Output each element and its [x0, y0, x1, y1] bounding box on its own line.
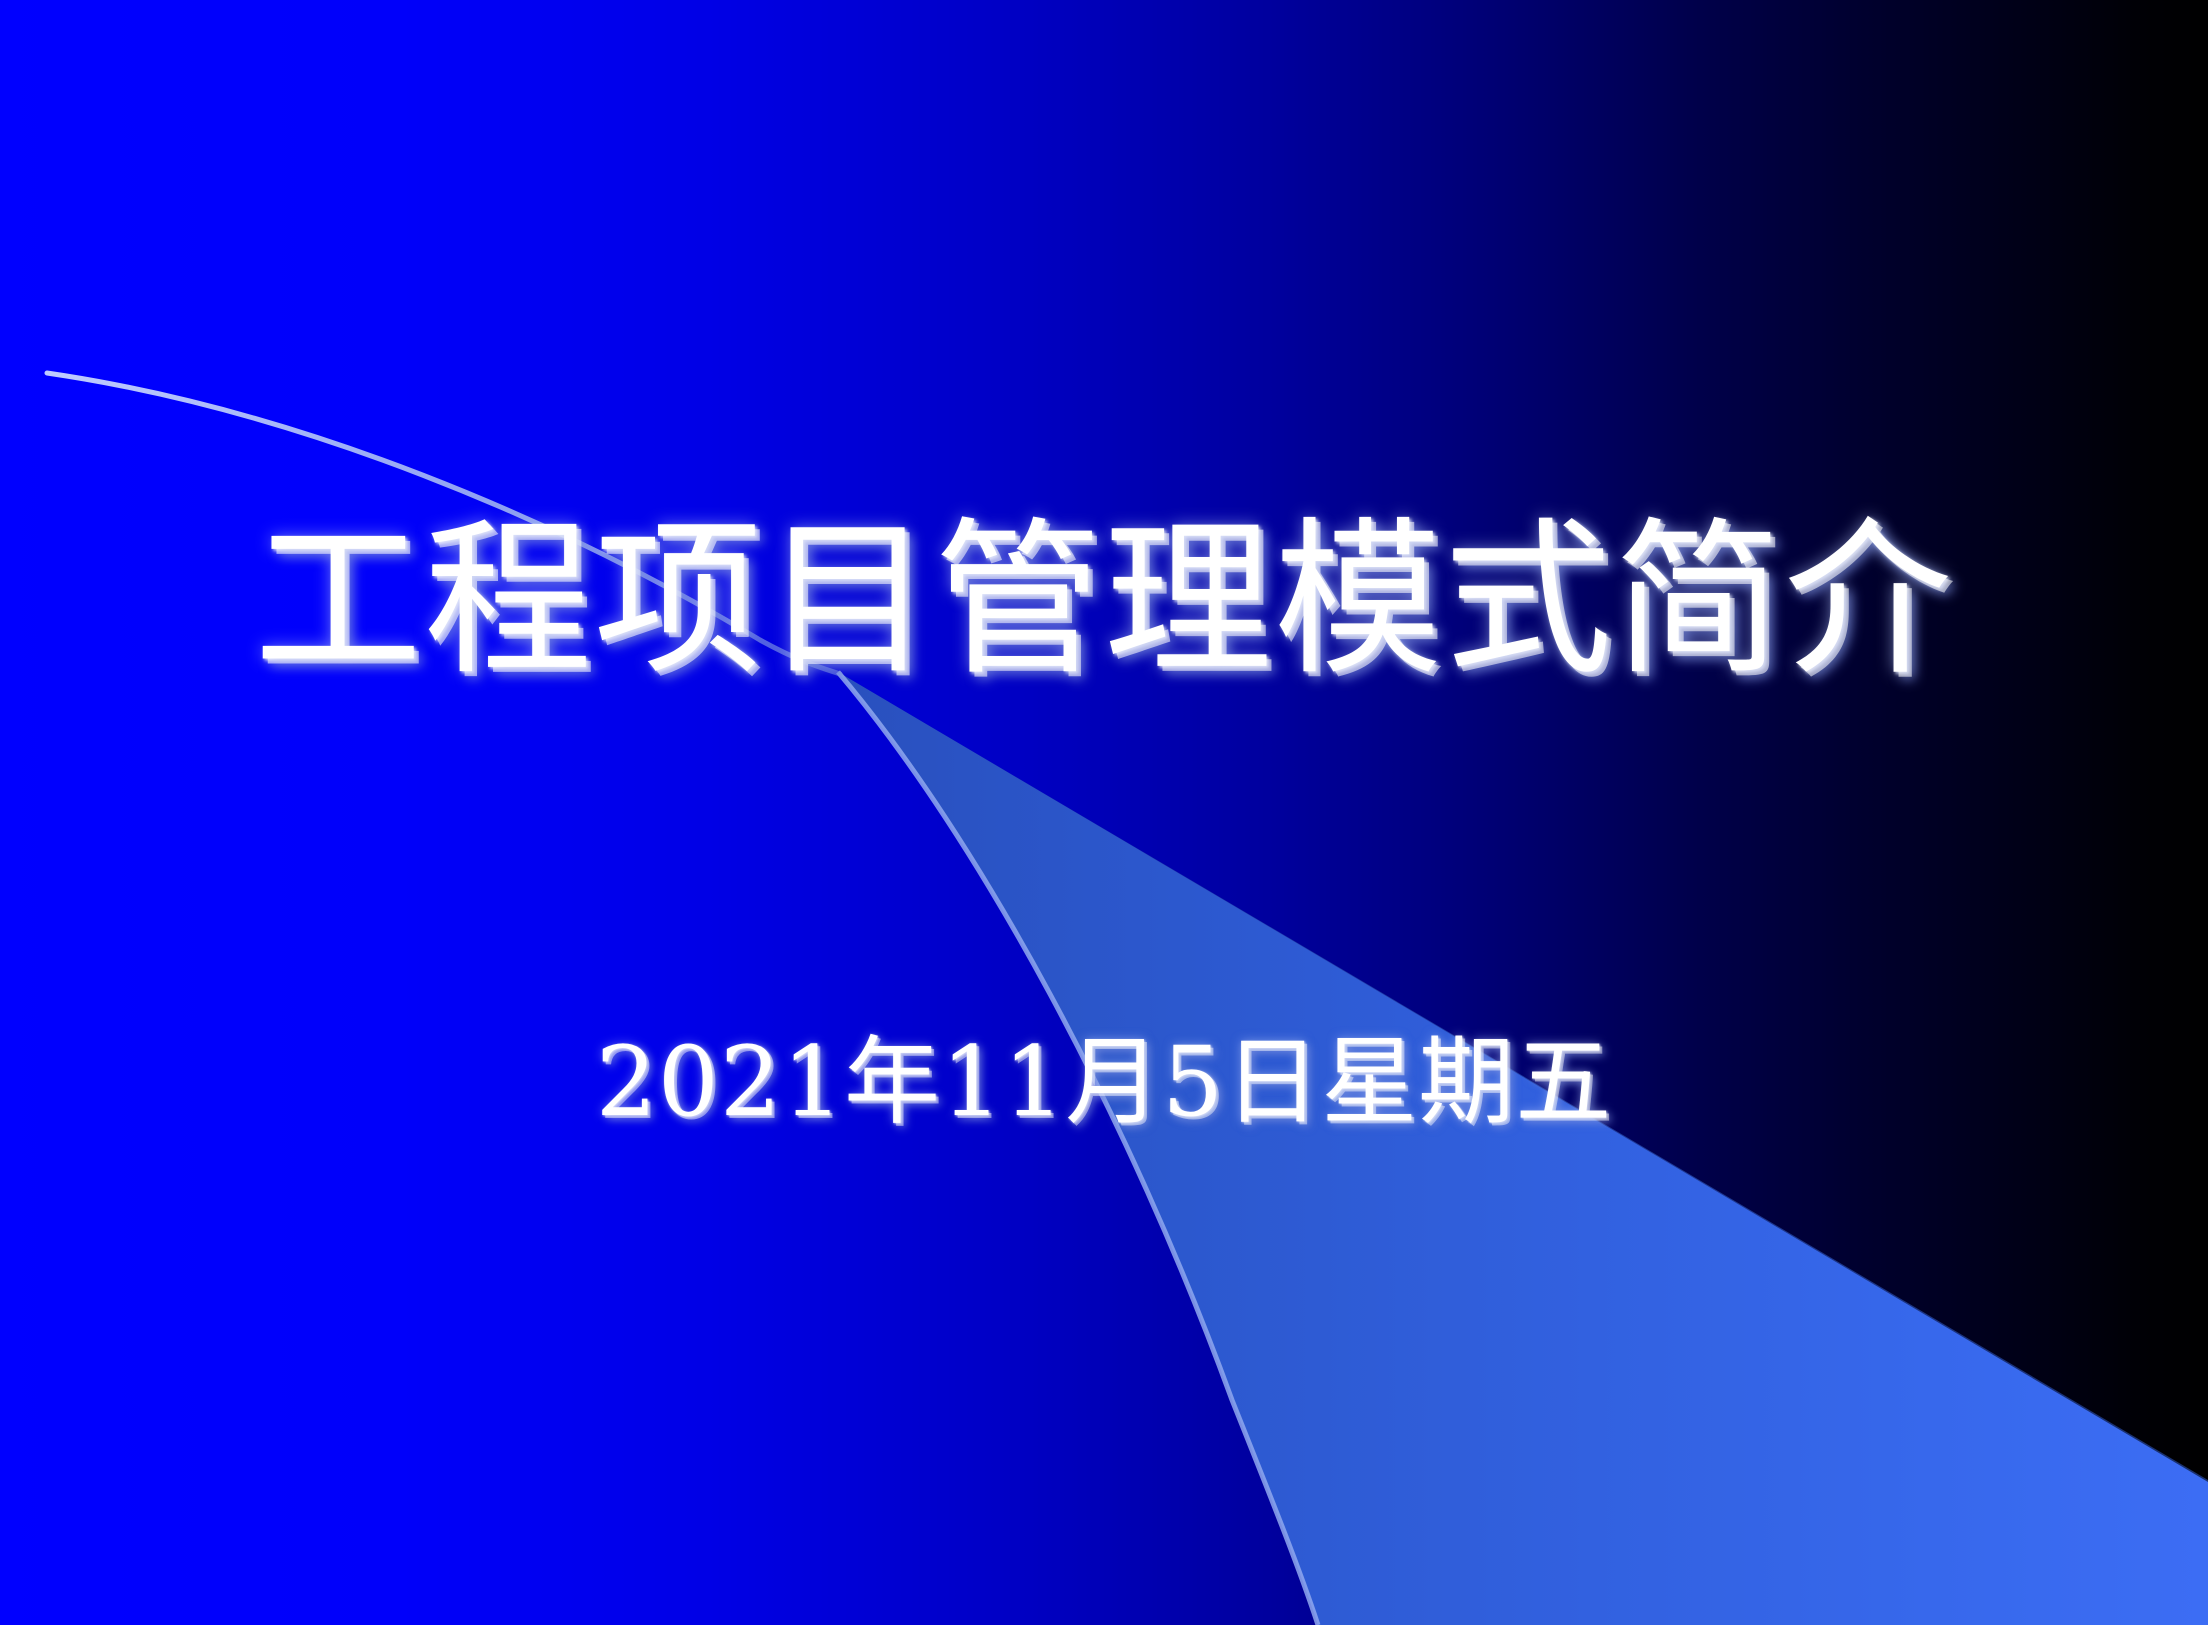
- slide-text-layer: 工程项目管理模式简介 2021年11月5日星期五: [0, 0, 2208, 1625]
- slide-date: 2021年11月5日星期五: [0, 1030, 2208, 1136]
- slide-title: 工程项目管理模式简介: [0, 508, 2208, 693]
- title-slide: 工程项目管理模式简介 2021年11月5日星期五: [0, 0, 2208, 1625]
